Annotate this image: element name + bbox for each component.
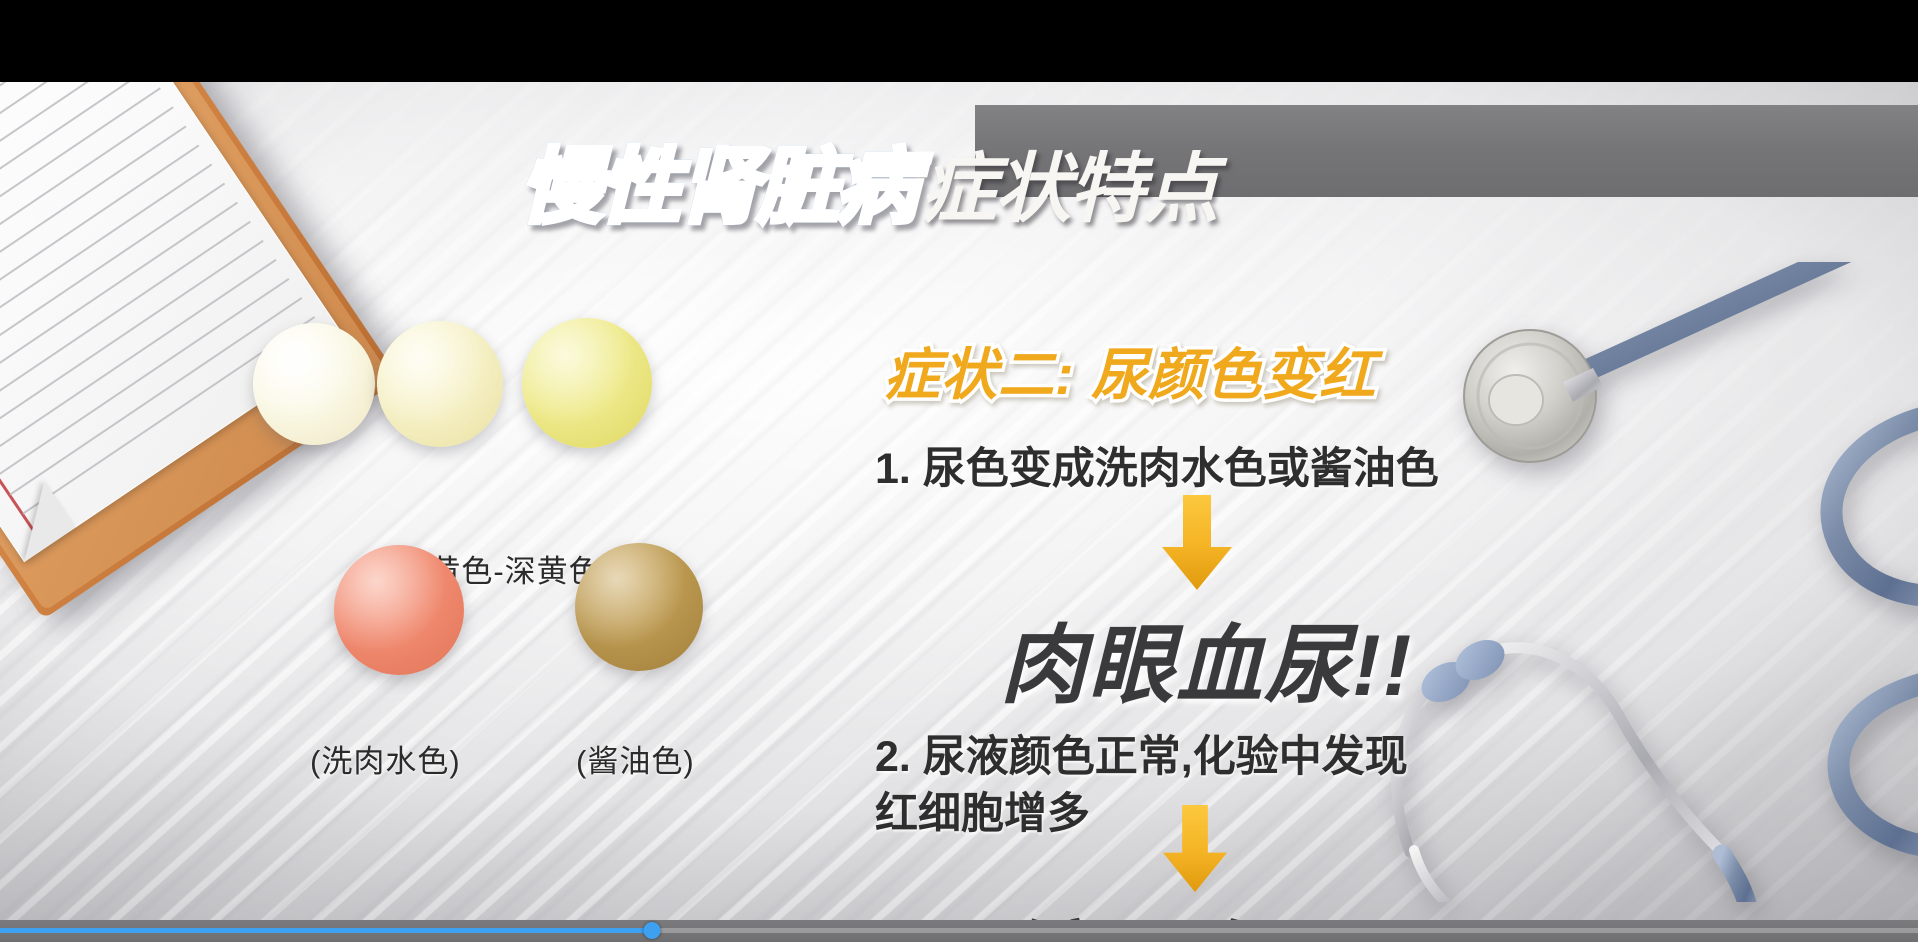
video-progress-handle[interactable] [644, 922, 661, 939]
down-arrow-icon [1160, 495, 1234, 591]
symptom-point-2-line-2: 红细胞增多 [875, 779, 1090, 841]
urine-swatch-pale-yellow [253, 323, 375, 445]
page-title-highlight: 慢性肾脏病 [520, 120, 915, 239]
symptom-point-2-line-1: 2. 尿液颜色正常,化验中发现 [875, 722, 1408, 784]
letterbox-top-bar [0, 0, 1918, 82]
page-title: 慢性肾脏病 症状特点 [520, 120, 1217, 239]
urine-swatch-deep-yellow [522, 318, 652, 448]
urine-caption-soy-sauce: (酱油色) [576, 736, 695, 781]
symptom-result-1: 肉眼血尿!! [1000, 595, 1413, 720]
symptom-heading: 症状二: 尿颜色变红 [884, 330, 1376, 411]
urine-swatch-meat-wash-red [334, 545, 464, 675]
urine-caption-meat-wash: (洗肉水色) [310, 736, 461, 781]
video-frame: (浅黄色-深黄色) (洗肉水色) (酱油色) 慢性肾脏病 症状特点 症状二: 尿… [0, 0, 1918, 942]
video-content: (浅黄色-深黄色) (洗肉水色) (酱油色) 慢性肾脏病 症状特点 症状二: 尿… [0, 82, 1918, 920]
urine-swatch-soy-sauce [575, 543, 703, 671]
page-title-rest: 症状特点 [921, 127, 1217, 237]
symptom-point-1: 1. 尿色变成洗肉水色或酱油色 [875, 434, 1439, 496]
symptom-result-2: 镜下血尿!! [1000, 892, 1413, 920]
stethoscope-image [1318, 262, 1918, 902]
video-progress-fill [0, 928, 652, 933]
video-progress-bar[interactable] [0, 928, 1918, 933]
down-arrow-icon-2 [1160, 805, 1230, 893]
urine-swatch-light-yellow [377, 321, 503, 447]
